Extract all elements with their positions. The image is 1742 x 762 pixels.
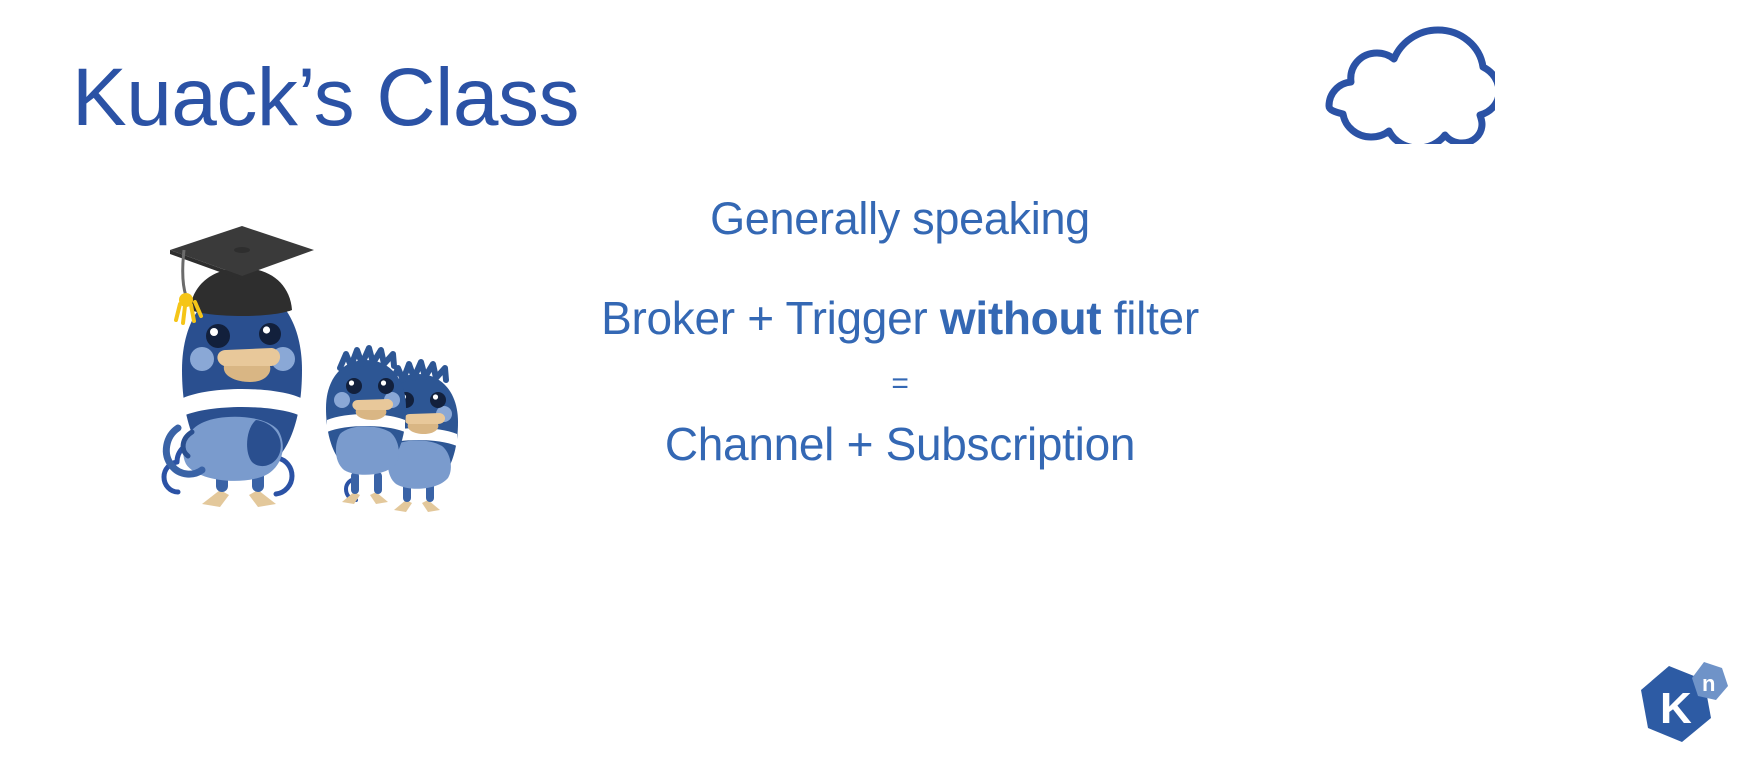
equation-emphasis-without: without: [940, 292, 1101, 344]
body-text-block: Generally speaking Broker + Trigger with…: [520, 196, 1280, 467]
body-line-result: Channel + Subscription: [520, 421, 1280, 467]
body-line-equation: Broker + Trigger without filter: [520, 295, 1280, 341]
equation-suffix: filter: [1101, 292, 1199, 344]
knative-logo-letter-n: n: [1702, 671, 1715, 696]
knative-logo-letter-k: K: [1660, 684, 1692, 733]
equation-prefix: Broker + Trigger: [601, 292, 940, 344]
slide-canvas: Kuack’s Class: [0, 0, 1742, 762]
page-title: Kuack’s Class: [72, 57, 579, 139]
kuack-birds-illustration: [160, 222, 500, 522]
body-line-equals-sign: =: [520, 369, 1280, 399]
body-line-generally-speaking: Generally speaking: [520, 196, 1280, 241]
cloud-outline-icon: [1305, 24, 1495, 144]
knative-logo: K n: [1636, 660, 1736, 752]
